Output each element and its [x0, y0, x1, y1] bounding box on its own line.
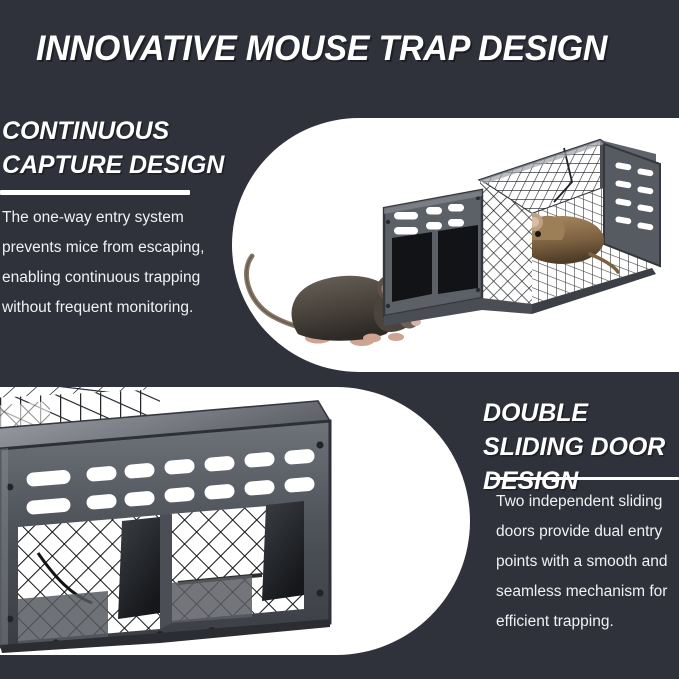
vent-slot-group-right	[604, 144, 660, 266]
infographic-page: INNOVATIVE MOUSE TRAP DESIGN	[0, 0, 679, 679]
page-title: INNOVATIVE MOUSE TRAP DESIGN	[36, 27, 607, 71]
photo-panel-trap-with-rat	[232, 118, 679, 372]
feature-divider-right	[490, 477, 679, 480]
sliding-door-left	[18, 515, 160, 645]
photo-panel-trap-front-doors	[0, 387, 470, 655]
cage-trap	[384, 140, 660, 326]
feature-heading-double-sliding-door: DOUBLE SLIDING DOOR DESIGN	[483, 396, 679, 498]
feature-body-double-sliding-door: Two independent sliding doors provide du…	[496, 487, 679, 637]
sliding-door-left	[392, 232, 432, 302]
feature-heading-continuous-capture: CONTINUOUS CAPTURE DESIGN	[2, 114, 242, 182]
sliding-door-right	[170, 501, 304, 623]
feature-body-continuous-capture: The one-way entry system prevents mice f…	[2, 203, 234, 323]
sliding-door-right	[438, 225, 478, 294]
feature-divider-left	[0, 190, 190, 195]
photo-trap-with-rat	[232, 118, 679, 372]
cage-trap-front-panel	[0, 401, 330, 647]
photo-trap-front-doors	[0, 387, 470, 655]
